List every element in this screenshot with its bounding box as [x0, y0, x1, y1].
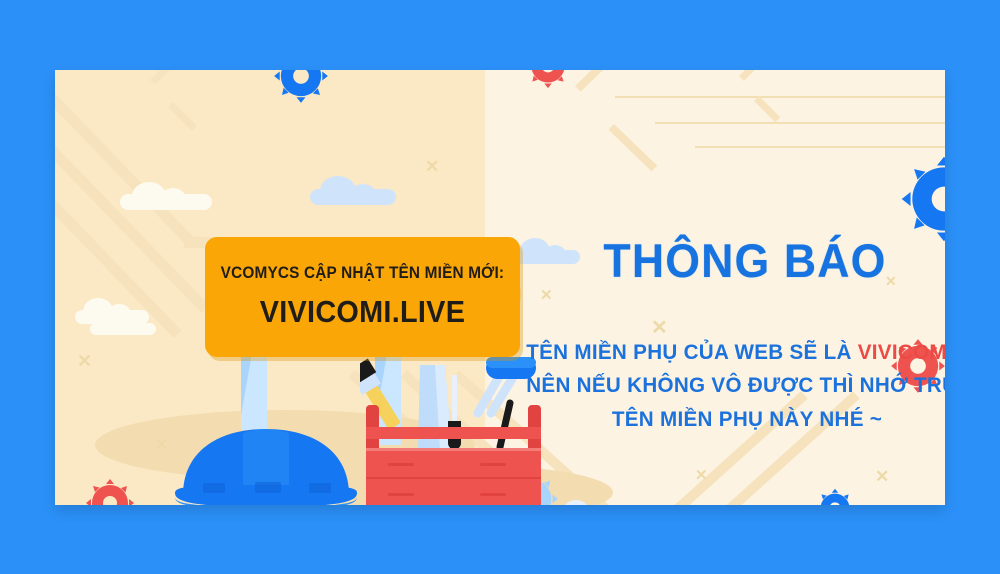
- domain-sign-board: VCOMYCS CẬP NHẬT TÊN MIỀN MỚI: VIVICOMI.…: [205, 237, 520, 357]
- decor-x-3: ✕: [77, 352, 92, 370]
- announcement-headline: THÔNG BÁO: [536, 233, 945, 288]
- decor-x-9: ✕: [875, 468, 889, 485]
- announcement-body: TÊN MIỀN PHỤ CỦA WEB SẼ LÀ VIVICOMI.CO N…: [526, 336, 945, 436]
- body-line1-prefix: TÊN MIỀN PHỤ CỦA WEB SẼ LÀ: [526, 340, 858, 364]
- cloud-right: [555, 500, 619, 505]
- sign-line-1: VCOMYCS CẬP NHẬT TÊN MIỀN MỚI:: [221, 264, 505, 283]
- toolbox-illustration: [360, 355, 550, 505]
- announcement-body-line-3: TÊN MIỀN PHỤ NÀY NHÉ ~: [526, 403, 945, 436]
- cloud-upper-left: [120, 180, 212, 210]
- decor-x-8: ✕: [695, 468, 708, 483]
- gear-top-center-red-icon: [525, 70, 571, 94]
- decor-x-1: ✕: [425, 158, 439, 175]
- gear-bottom-right-blue-icon: [815, 488, 855, 505]
- hard-hat-illustration: [173, 425, 359, 505]
- cloud-upper-mid: [310, 175, 396, 205]
- cloud-lower-left: [90, 313, 156, 335]
- decor-hrule-1: [615, 96, 945, 98]
- decor-hrule-3: [695, 146, 945, 148]
- gear-bottom-left-red-icon: [85, 478, 135, 505]
- sign-line-2: VIVICOMI.LIVE: [260, 294, 465, 330]
- announcement-body-line-1: TÊN MIỀN PHỤ CỦA WEB SẼ LÀ VIVICOMI.CO: [526, 336, 945, 369]
- decor-x-6: ✕: [155, 438, 168, 454]
- decor-hrule-2: [655, 122, 945, 124]
- announcement-card: ✕ ✕ ✕ ✕ ✕ ✕ ✕ ✕ ✕: [55, 70, 945, 505]
- domain-highlight: VIVICOMI.CO: [858, 340, 945, 364]
- page-root: ✕ ✕ ✕ ✕ ✕ ✕ ✕ ✕ ✕: [0, 0, 1000, 574]
- decor-x-4: ✕: [651, 318, 668, 338]
- announcement-body-line-2: NÊN NẾU KHÔNG VÔ ĐƯỢC THÌ NHỚ TRUY CẬP: [526, 369, 945, 402]
- gear-top-left-blue-icon: [273, 70, 329, 109]
- decor-x-2: ✕: [540, 288, 553, 303]
